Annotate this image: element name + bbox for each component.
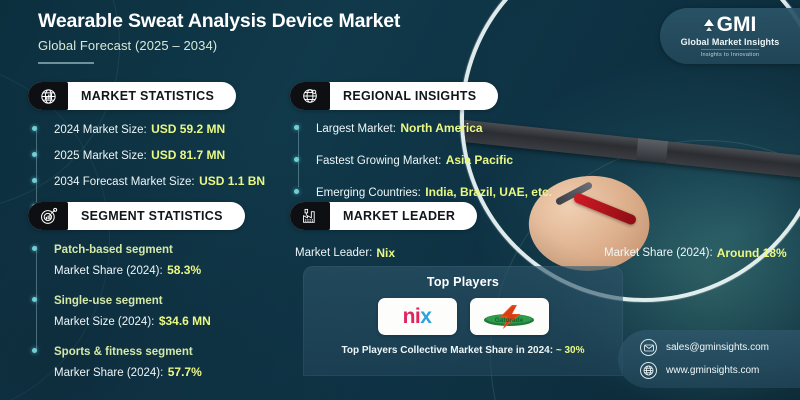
segment-group-value-row: Market Size (2024): $34.6 MN [54,312,245,330]
contact-website: www.gminsights.com [666,365,759,376]
contact-email: sales@gminsights.com [666,342,769,353]
market-leader-values: Market Leader: Nix Market Share (2024): … [290,242,780,264]
envelope-icon [640,339,657,356]
list-item: Single-use segment Market Size (2024): $… [54,291,245,330]
list-item: Sports & fitness segment Marker Share (2… [54,342,245,381]
gmi-tagline: Insights to Innovation [701,49,760,58]
gmi-diamond-icon [704,19,714,31]
bullet-dot [32,178,37,183]
share-label: Market Share (2024): [604,247,713,259]
bullet-dot [32,126,37,131]
stat-label: Marker Share (2024): [54,367,163,379]
globe-chart-icon [28,82,68,110]
regional-insights-title: REGIONAL INSIGHTS [330,89,476,103]
list-item: 2034 Forecast Market Size: USD 1.1 BN [54,172,265,190]
nix-logo[interactable]: nix [378,298,457,335]
stat-value: 58.3% [167,263,201,277]
stat-value: 57.7% [168,365,202,379]
stat-label: Largest Market: [316,123,396,135]
gmi-logo-top: GMI [704,14,757,35]
gmi-mark-text: GMI [717,14,757,35]
gatorade-logo[interactable]: Gatorade [470,298,549,335]
nix-logo-text: nix [403,306,432,327]
stat-label: Market Share (2024): [54,265,163,277]
leader-label: Market Leader: [295,247,372,259]
stat-value: North America [400,121,482,135]
contact-panel: sales@gminsights.com www.gminsights.com [618,330,800,388]
gmi-logo: GMI Global Market Insights Insights to I… [660,8,800,64]
bullet-dot [294,125,299,130]
market-leader-title: MARKET LEADER [330,209,455,223]
list-item: 2024 Market Size: USD 59.2 MN [54,120,265,138]
leader-value: Nix [376,246,395,260]
list-item: Emerging Countries: India, Brazil, UAE, … [316,183,552,201]
contact-website-row[interactable]: www.gminsights.com [640,362,800,379]
stat-value: USD 59.2 MN [151,122,225,136]
top-players-card: Top Players nix Gatorade Top Players Col… [303,266,623,376]
stat-label: Emerging Countries: [316,187,421,199]
top-players-note-value: ~ 30% [556,345,585,356]
bullet-dot [32,297,37,302]
segment-name: Patch-based segment [54,244,173,256]
top-players-logos: nix Gatorade [303,298,623,335]
stat-label: Market Size (2024): [54,316,154,328]
stat-label: 2025 Market Size: [54,150,147,162]
stat-label: Fastest Growing Market: [316,155,441,167]
bullet-dot [294,157,299,162]
section-segment-statistics: SEGMENT STATISTICS Patch-based segment M… [28,202,245,381]
gatorade-logo-mark: Gatorade [478,303,540,331]
bullet-dot [32,152,37,157]
title-underline [38,62,94,64]
contact-email-row[interactable]: sales@gminsights.com [640,339,800,356]
segment-name: Single-use segment [54,295,163,307]
list-item: Largest Market: North America [316,119,552,137]
stat-value: India, Brazil, UAE, etc. [425,185,552,199]
segment-group-value-row: Market Share (2024): 58.3% [54,261,245,279]
bullet-dot [32,348,37,353]
segment-name: Sports & fitness segment [54,346,193,358]
segment-group-title-row: Sports & fitness segment [54,342,245,360]
stat-value: USD 1.1 BN [199,174,265,188]
segment-group-title-row: Patch-based segment [54,240,245,258]
bullet-dot [32,246,37,251]
stat-label: 2034 Forecast Market Size: [54,176,195,188]
header: Wearable Sweat Analysis Device Market Gl… [38,10,400,64]
segment-statistics-header: SEGMENT STATISTICS [28,202,245,230]
page-title: Wearable Sweat Analysis Device Market [38,10,400,33]
regional-insights-list: Largest Market: North America Fastest Gr… [290,119,552,201]
factory-icon [290,202,330,230]
share-value: Around 18% [717,246,787,260]
bullet-dot [294,189,299,194]
top-players-title: Top Players [303,266,623,289]
gmi-company-name: Global Market Insights [681,37,780,47]
stat-label: 2024 Market Size: [54,124,147,136]
market-statistics-title: MARKET STATISTICS [68,89,214,103]
stat-value: USD 81.7 MN [151,148,225,162]
segment-statistics-list: Patch-based segment Market Share (2024):… [28,240,245,381]
top-players-note: Top Players Collective Market Share in 2… [303,345,623,356]
list-item: Fastest Growing Market: Asia Pacific [316,151,552,169]
market-statistics-header: MARKET STATISTICS [28,82,236,110]
target-chart-icon [28,202,68,230]
top-players-note-label: Top Players Collective Market Share in 2… [342,345,554,356]
nix-logo-part2: x [420,305,431,328]
svg-text:Gatorade: Gatorade [495,317,524,324]
nix-logo-part1: ni [403,305,421,328]
list-connector-line [36,126,37,202]
list-item: 2025 Market Size: USD 81.7 MN [54,146,265,164]
market-leader-header: MARKET LEADER [290,202,477,230]
infographic-canvas: GMI Global Market Insights Insights to I… [0,0,800,400]
segment-group-value-row: Marker Share (2024): 57.7% [54,363,245,381]
section-market-statistics: MARKET STATISTICS 2024 Market Size: USD … [28,82,265,216]
section-regional-insights: REGIONAL INSIGHTS Largest Market: North … [290,82,552,201]
regional-insights-header: REGIONAL INSIGHTS [290,82,498,110]
section-market-leader: MARKET LEADER Market Leader: Nix Market … [290,202,780,264]
list-connector-line [298,125,299,187]
segment-statistics-title: SEGMENT STATISTICS [68,209,223,223]
globe-icon [290,82,330,110]
page-subtitle: Global Forecast (2025 – 2034) [38,38,400,53]
globe-icon [640,362,657,379]
segment-group-title-row: Single-use segment [54,291,245,309]
list-item: Patch-based segment Market Share (2024):… [54,240,245,279]
stat-value: $34.6 MN [159,314,211,328]
stat-value: Asia Pacific [446,153,513,167]
